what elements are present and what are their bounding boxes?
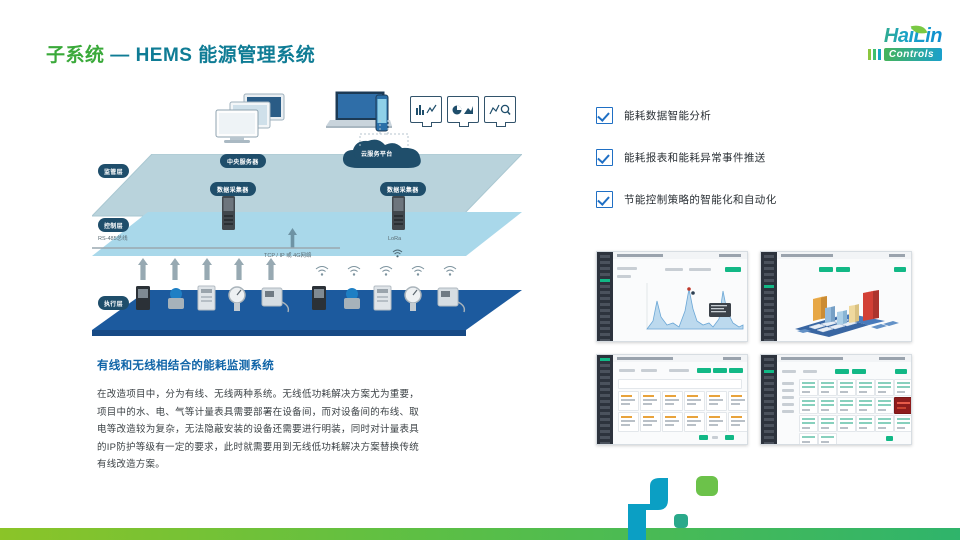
page-title-teal: — HEMS 能源管理系统: [110, 45, 315, 66]
link-label-lora: LoRa: [388, 236, 401, 242]
logo-subrow: Controls: [822, 48, 942, 61]
data-collector-wireless-icon: [390, 196, 408, 237]
sidebar-nav: [761, 355, 777, 444]
bar-chart-monitor-icon: [410, 96, 442, 123]
link-label-rs485: RS-485总线: [98, 234, 128, 242]
decorative-leaf-shapes: [620, 460, 740, 540]
logo-controls-label: Controls: [884, 48, 942, 61]
architecture-diagram: 监管层 控制层 执行层: [92, 82, 522, 344]
device-monitoring-grid-dashboard[interactable]: [760, 354, 912, 445]
node-tag-collector-wireless: 数据采集器: [380, 182, 426, 196]
node-tag-central-server: 中央服务器: [220, 154, 266, 168]
rs485-bus-line: [92, 246, 342, 250]
device-grid-panel: [777, 362, 911, 444]
wired-uplink-arrows: [138, 258, 318, 280]
section-subtitle: 有线和无线相结合的能耗监测系统: [97, 357, 274, 373]
device-card-list-dashboard[interactable]: [596, 354, 748, 445]
checkbox-checked-icon: [596, 191, 613, 208]
hailin-logo: HaiLin Controls: [822, 26, 942, 70]
list-item: 能耗数据智能分析: [596, 107, 896, 124]
section-paragraph: 在改造项目中，分为有线、无线两种系统。无线低功耗解决方案尤为重要，项目中的水、电…: [97, 386, 419, 474]
pie-chart-monitor-icon: [447, 96, 479, 123]
3d-bar-chart: [783, 277, 911, 339]
chart-panel: [613, 259, 747, 341]
chart-panel: [777, 259, 911, 341]
list-item-label: 节能控制策略的智能化和自动化: [624, 192, 777, 207]
signal-bars-icon: [868, 49, 881, 60]
page-title-green: 子系统: [46, 45, 105, 66]
layer-tag-execution: 执行层: [98, 296, 129, 310]
list-item-label: 能耗数据智能分析: [624, 108, 711, 123]
slide-root: 子系统 — HEMS 能源管理系统 HaiLin Controls 监管层 控制…: [0, 0, 960, 540]
list-item: 能耗报表和能耗异常事件推送: [596, 149, 896, 166]
layer-tag-control: 控制层: [98, 218, 129, 232]
feature-list: 能耗数据智能分析 能耗报表和能耗异常事件推送 节能控制策略的智能化和自动化: [596, 107, 896, 233]
data-collector-wired-icon: [220, 196, 238, 237]
alarm-card: [894, 397, 912, 414]
energy-trend-dashboard[interactable]: [596, 251, 748, 342]
footer-gradient-bar: [0, 528, 960, 540]
layer-tag-supervision: 监管层: [98, 164, 129, 178]
dashboard-screenshot-gallery: [596, 251, 912, 441]
sidebar-nav: [597, 252, 613, 341]
checkbox-checked-icon: [596, 107, 613, 124]
list-item-label: 能耗报表和能耗异常事件推送: [624, 150, 766, 165]
meters-wired-group: [132, 282, 332, 316]
wireless-uplink-icons: [314, 264, 494, 278]
sidebar-nav: [761, 252, 777, 341]
3d-bar-statistics-dashboard[interactable]: [760, 251, 912, 342]
node-tag-cloud-platform: 云服务平台: [354, 146, 400, 160]
sidebar-nav: [597, 355, 613, 444]
card-grid-panel: [613, 362, 747, 444]
central-server-icon: [214, 92, 290, 159]
lora-wifi-icon: [392, 245, 403, 254]
page-title: 子系统 — HEMS 能源管理系统: [46, 40, 315, 67]
meters-wireless-group: [308, 282, 508, 316]
list-item: 节能控制策略的智能化和自动化: [596, 191, 896, 208]
node-tag-collector-wired: 数据采集器: [210, 182, 256, 196]
area-line-chart: [641, 281, 745, 335]
uplink-arrow-icon: [288, 228, 297, 246]
checkbox-checked-icon: [596, 149, 613, 166]
analytics-monitor-icon: [484, 96, 516, 123]
